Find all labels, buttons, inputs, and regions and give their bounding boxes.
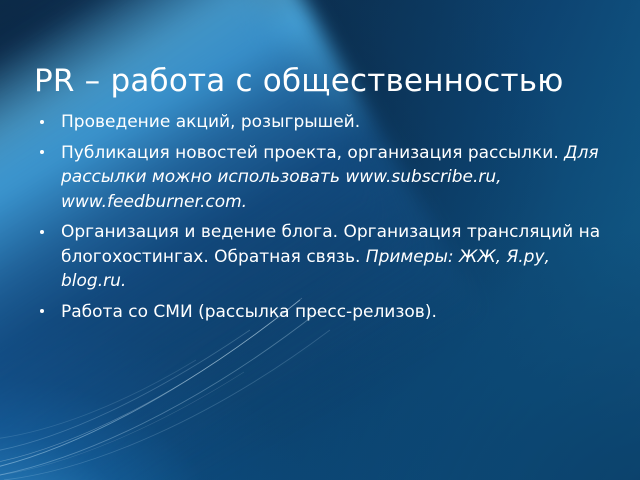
bullet-dot-icon bbox=[40, 150, 44, 154]
bullet-text-plain: Публикация новостей проекта, организация… bbox=[61, 143, 564, 163]
list-item: Организация и ведение блога. Организация… bbox=[34, 220, 606, 294]
bullet-dot-icon bbox=[40, 230, 44, 234]
page-title: PR – работа с общественностью bbox=[34, 62, 600, 100]
list-item: Работа со СМИ (рассылка пресс-релизов). bbox=[34, 300, 606, 325]
list-item: Проведение акций, розыгрышей. bbox=[34, 110, 606, 135]
list-item: Публикация новостей проекта, организация… bbox=[34, 141, 606, 215]
bullet-dot-icon bbox=[40, 120, 44, 124]
bullet-dot-icon bbox=[40, 309, 44, 313]
presentation-slide: PR – работа с общественностью Проведение… bbox=[0, 0, 640, 480]
bullet-text-plain: Проведение акций, розыгрышей. bbox=[61, 112, 360, 132]
bullet-text-plain: Работа со СМИ (рассылка пресс-релизов). bbox=[61, 302, 437, 322]
bullet-list: Проведение акций, розыгрышей. Публикация… bbox=[34, 110, 606, 324]
slide-content: PR – работа с общественностью Проведение… bbox=[0, 0, 640, 480]
